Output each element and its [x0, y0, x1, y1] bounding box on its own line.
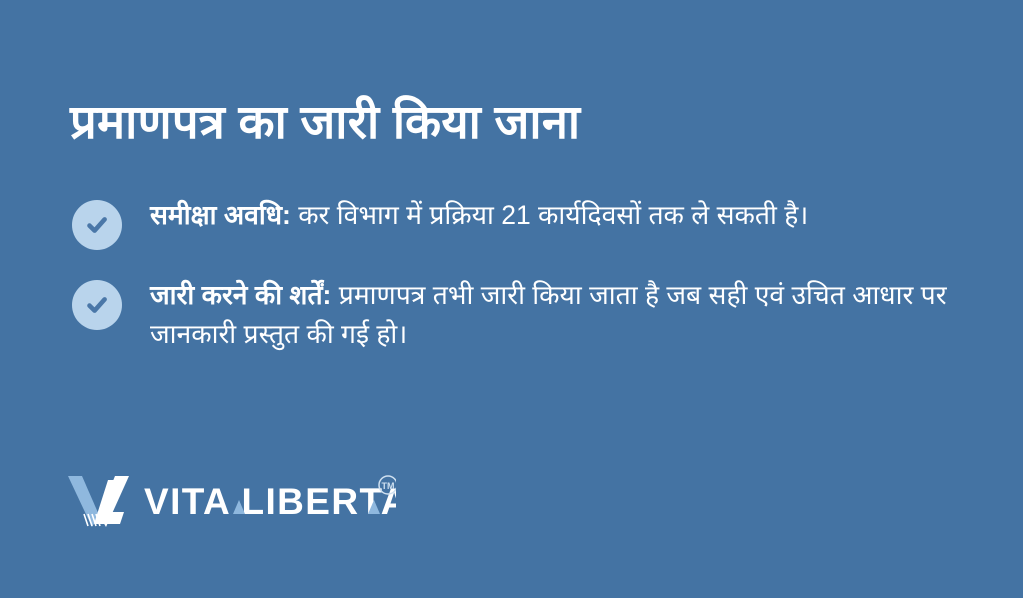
- bullet-list: समीक्षा अवधि: कर विभाग में प्रक्रिया 21 …: [72, 196, 952, 380]
- list-item-text: समीक्षा अवधि: कर विभाग में प्रक्रिया 21 …: [150, 196, 950, 235]
- trademark-label: TM: [382, 481, 395, 491]
- list-item-lead: समीक्षा अवधि:: [150, 200, 291, 230]
- list-item-lead: जारी करने की शर्तें:: [150, 280, 331, 310]
- svg-text:VITA LIBERTA: VITA LIBERTA: [144, 481, 396, 522]
- vl-monogram-icon: [68, 474, 130, 528]
- brand-wordmark: VITA LIBERTA TM: [144, 474, 396, 528]
- brand-logo: VITA LIBERTA TM: [68, 472, 396, 530]
- list-item: जारी करने की शर्तें: प्रमाणपत्र तभी जारी…: [72, 276, 952, 354]
- page-title: प्रमाणपत्र का जारी किया जाना: [70, 94, 970, 149]
- check-circle-icon: [72, 200, 122, 250]
- list-item-text: जारी करने की शर्तें: प्रमाणपत्र तभी जारी…: [150, 276, 950, 354]
- slide-canvas: प्रमाणपत्र का जारी किया जाना समीक्षा अवध…: [0, 0, 1023, 598]
- list-item: समीक्षा अवधि: कर विभाग में प्रक्रिया 21 …: [72, 196, 952, 250]
- check-circle-icon: [72, 280, 122, 330]
- list-item-body: कर विभाग में प्रक्रिया 21 कार्यदिवसों तक…: [291, 200, 808, 230]
